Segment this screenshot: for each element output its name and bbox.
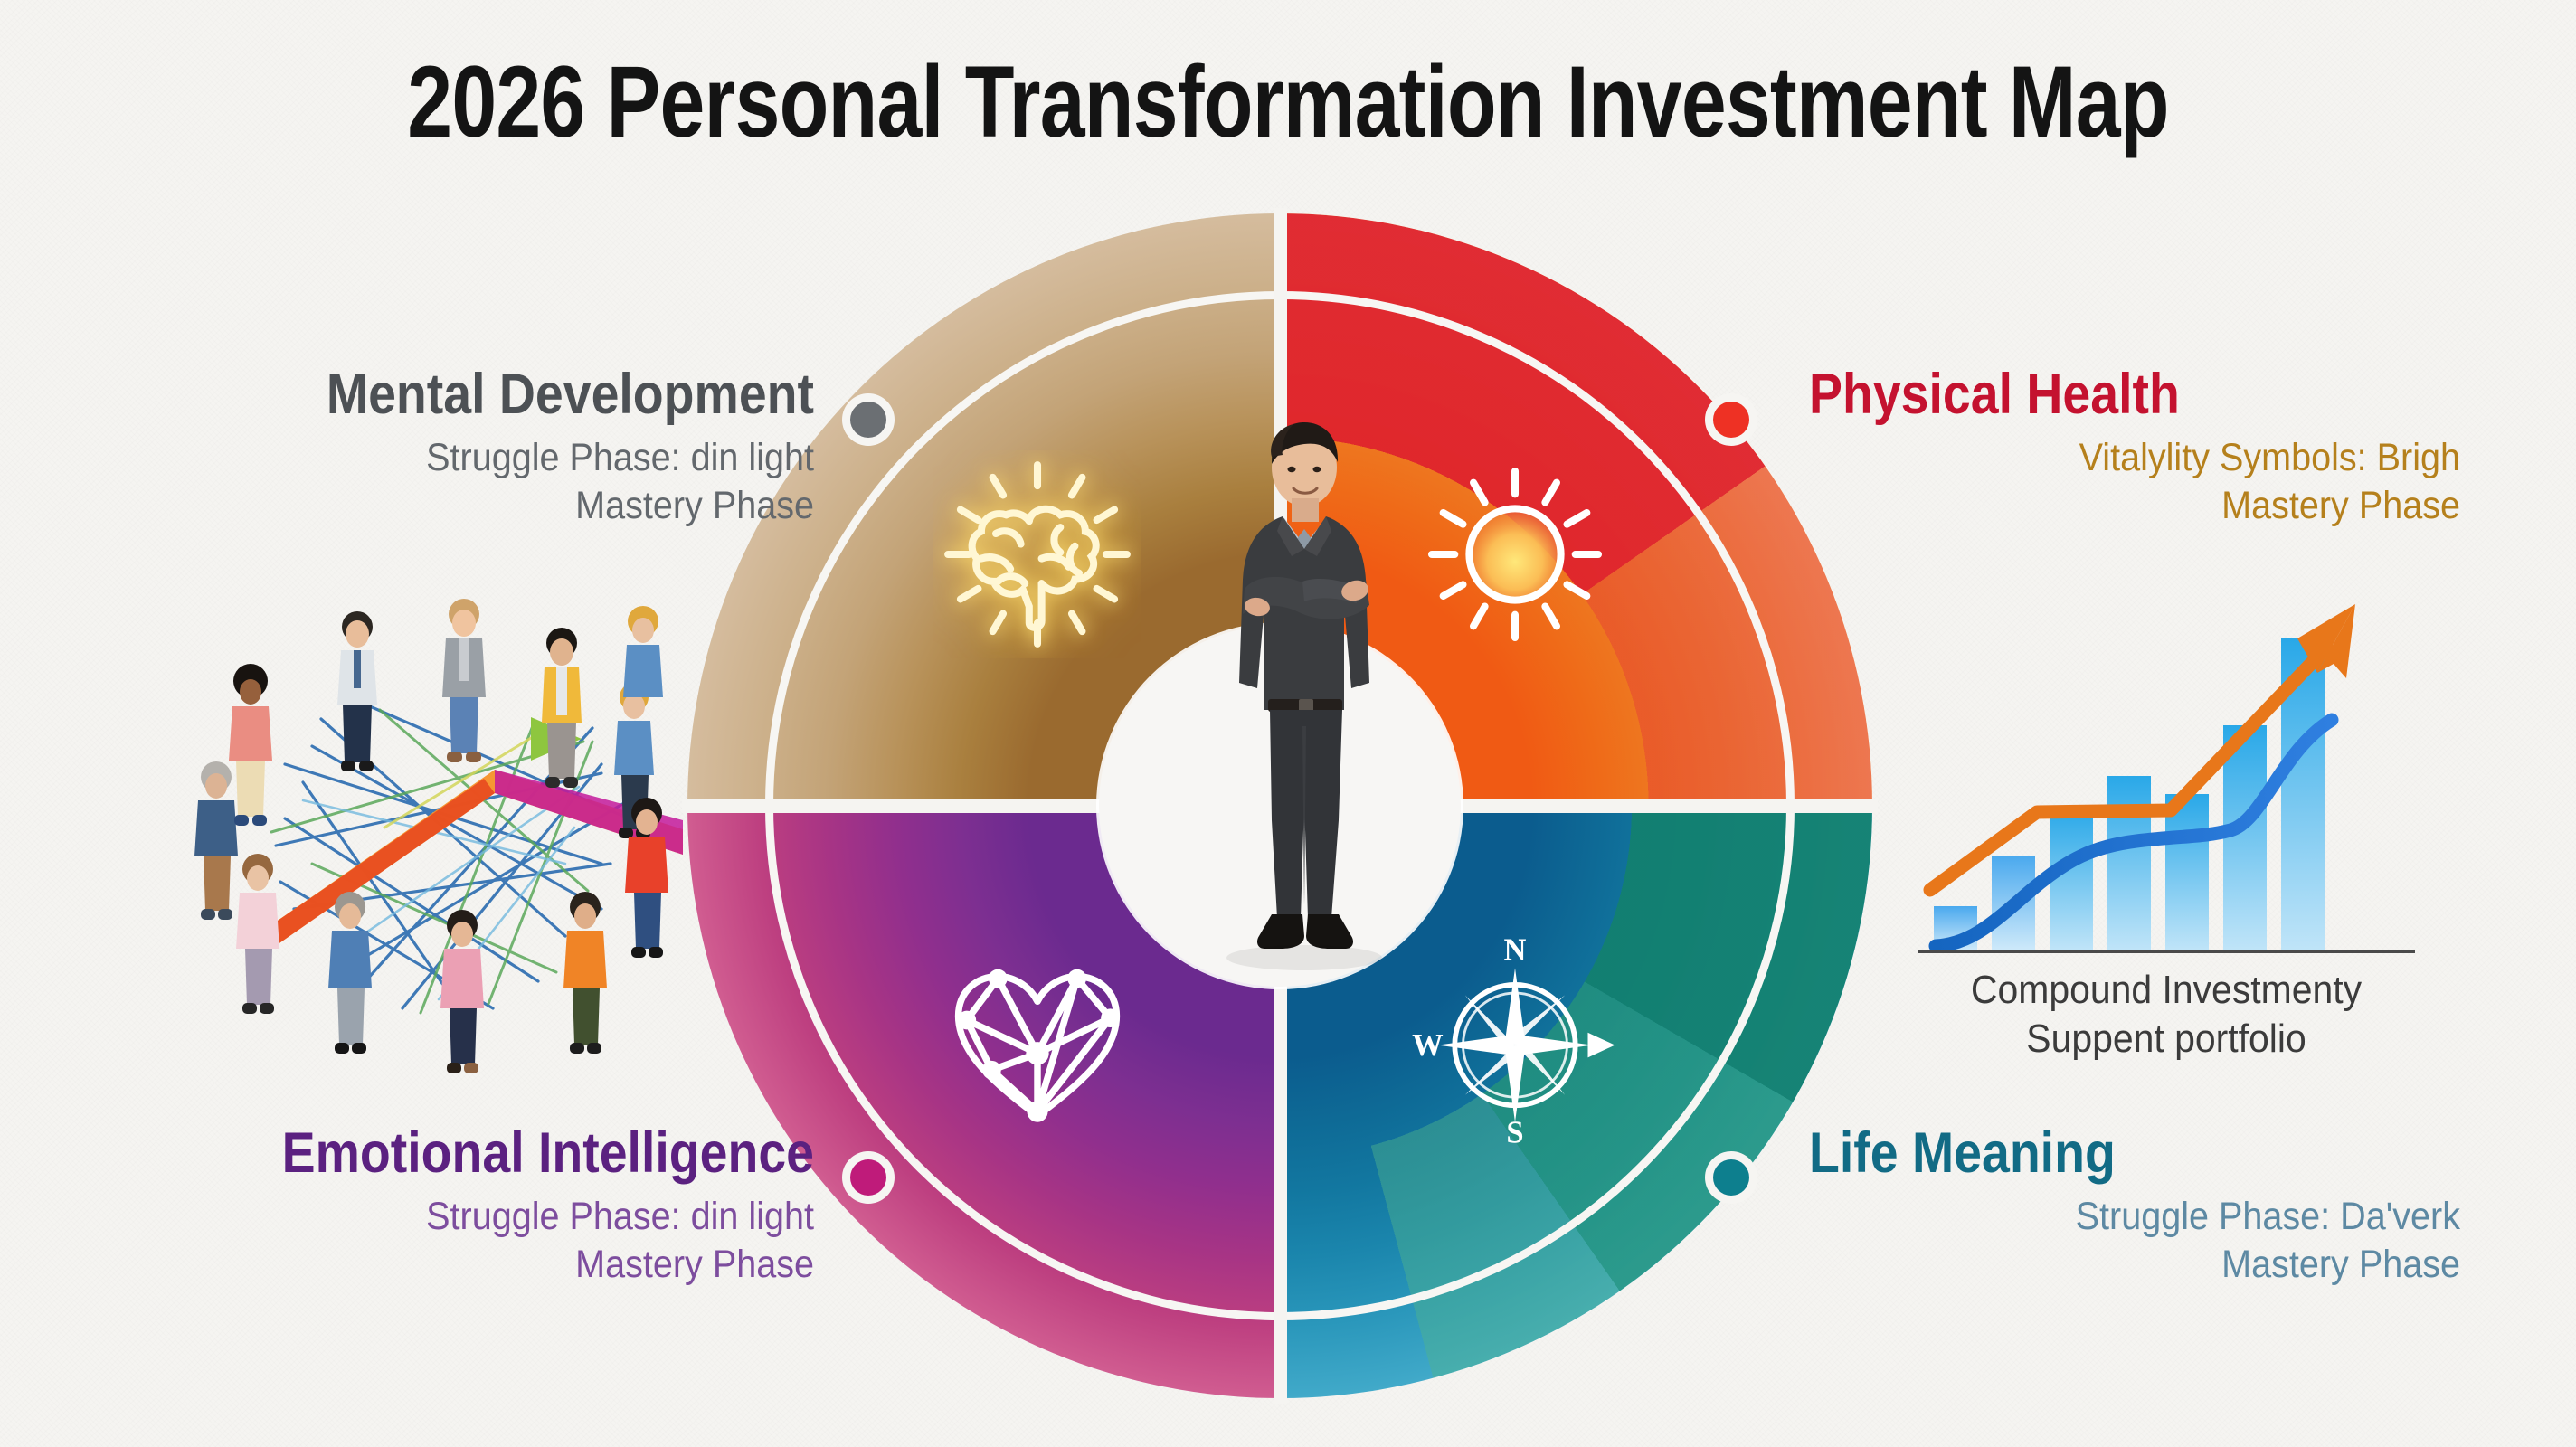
center-figure-businessman — [1194, 411, 1416, 981]
compound-investment-chart — [1908, 588, 2424, 995]
compass-label-south: S — [1506, 1116, 1523, 1145]
quadrant-sub1-physical: Vitalylity Symbols: Brigh — [1861, 434, 2460, 481]
chart-caption: Compound Investmenty Suppent portfolio — [1909, 966, 2422, 1063]
quadrant-sub2-mental: Mastery Phase — [198, 482, 814, 529]
chart-caption-line2: Suppent portfolio — [1909, 1015, 2422, 1064]
heart-network-icon — [933, 937, 1141, 1145]
quadrant-title-mental: Mental Development — [225, 365, 814, 423]
label-block-emotional[interactable]: Emotional Intelligence Struggle Phase: d… — [109, 1124, 814, 1288]
quadrant-sub2-emotional: Mastery Phase — [165, 1241, 814, 1288]
connector-dot-life — [1713, 1159, 1749, 1196]
label-block-mental[interactable]: Mental Development Struggle Phase: din l… — [145, 365, 814, 529]
brain-icon — [933, 450, 1141, 658]
page-title: 2026 Personal Transformation Investment … — [258, 43, 2318, 160]
quadrant-title-physical: Physical Health — [1809, 365, 2382, 423]
connector-dot-physical — [1713, 402, 1749, 438]
label-block-physical[interactable]: Physical Health Vitalylity Symbols: Brig… — [1809, 365, 2460, 529]
quadrant-sub2-physical: Mastery Phase — [1861, 482, 2460, 529]
label-block-life[interactable]: Life Meaning Struggle Phase: Da'verk Mas… — [1809, 1124, 2460, 1288]
quadrant-sub1-mental: Struggle Phase: din light — [198, 434, 814, 481]
compass-label-north: N — [1504, 937, 1527, 967]
compass-icon: N W S — [1411, 937, 1619, 1145]
chart-caption-line1: Compound Investmenty — [1909, 966, 2422, 1015]
quadrant-sub2-life: Mastery Phase — [1861, 1241, 2460, 1288]
people-network-illustration — [176, 592, 701, 1099]
quadrant-sub1-life: Struggle Phase: Da'verk — [1861, 1193, 2460, 1240]
infographic-canvas: 2026 Personal Transformation Investment … — [0, 0, 2576, 1447]
quadrant-title-life: Life Meaning — [1809, 1124, 2382, 1182]
quadrant-sub1-emotional: Struggle Phase: din light — [165, 1193, 814, 1240]
connector-dot-emotional — [850, 1159, 886, 1196]
connector-dot-mental — [850, 402, 886, 438]
sun-icon — [1411, 450, 1619, 658]
quadrant-title-emotional: Emotional Intelligence — [194, 1124, 814, 1182]
compass-label-west: W — [1412, 1028, 1444, 1063]
